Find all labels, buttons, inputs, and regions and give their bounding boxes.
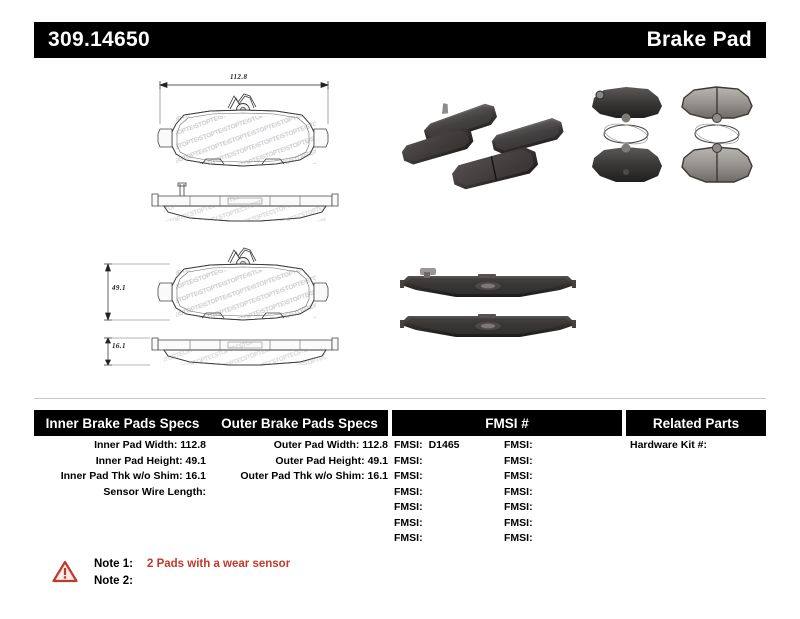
fmsi-label: FMSI: bbox=[504, 455, 533, 467]
fmsi-label: FMSI: bbox=[394, 532, 423, 544]
fmsi-label: FMSI: bbox=[504, 486, 533, 498]
dimension-thickness-label: 16.1 bbox=[112, 342, 126, 350]
note-row-2: Note 2: bbox=[94, 573, 290, 590]
outer-spec-line: Outer Pad Width: 112.8 bbox=[214, 438, 388, 454]
dimension-width-label: 112.8 bbox=[230, 73, 247, 81]
drawing-pad-edge-bottom: 16.1 bbox=[150, 330, 340, 374]
notes-section: Note 1: 2 Pads with a wear sensor Note 2… bbox=[52, 556, 472, 602]
fmsi-label: FMSI: bbox=[504, 501, 533, 513]
fmsi-row: FMSI: bbox=[504, 454, 604, 470]
fmsi-column-a: FMSI:D1465FMSI:FMSI:FMSI:FMSI:FMSI:FMSI: bbox=[394, 438, 494, 547]
fmsi-row: FMSI: bbox=[504, 500, 604, 516]
inner-spec-line: Inner Pad Thk w/o Shim: 16.1 bbox=[34, 469, 206, 485]
fmsi-label: FMSI: bbox=[504, 532, 533, 544]
fmsi-value: D1465 bbox=[429, 439, 460, 451]
inner-spec-line: Inner Pad Width: 112.8 bbox=[34, 438, 206, 454]
table-header-row: Inner Brake Pads Specs Outer Brake Pads … bbox=[34, 410, 766, 436]
fmsi-row: FMSI: bbox=[394, 516, 494, 532]
outer-spec-line: Outer Pad Height: 49.1 bbox=[214, 454, 388, 470]
part-number: 309.14650 bbox=[48, 28, 150, 52]
related-part-line: Hardware Kit #: bbox=[630, 438, 766, 454]
drawing-pad-edge-top: STOPTECH bbox=[150, 180, 340, 224]
dimension-height-label: 49.1 bbox=[112, 284, 126, 292]
fmsi-row: FMSI: bbox=[504, 516, 604, 532]
fmsi-row: FMSI:D1465 bbox=[394, 438, 494, 454]
fmsi-row: FMSI: bbox=[504, 469, 604, 485]
warning-triangle-icon bbox=[52, 560, 78, 583]
note-lines: Note 1: 2 Pads with a wear sensor Note 2… bbox=[94, 556, 290, 590]
fmsi-label: FMSI: bbox=[394, 517, 423, 529]
header-cell-fmsi: FMSI # bbox=[392, 410, 622, 436]
inner-spec-line: Inner Pad Height: 49.1 bbox=[34, 454, 206, 470]
product-type: Brake Pad bbox=[647, 28, 752, 52]
note-2-label: Note 2: bbox=[94, 573, 140, 590]
header-outer-brake-pads-specs: Outer Brake Pads Specs bbox=[211, 410, 388, 436]
photo-pad-set-grid bbox=[586, 84, 758, 188]
fmsi-row: FMSI: bbox=[394, 500, 494, 516]
photo-pad-pair-edge bbox=[400, 264, 576, 346]
fmsi-row: FMSI: bbox=[394, 454, 494, 470]
fmsi-label: FMSI: bbox=[394, 455, 423, 467]
fmsi-row: FMSI: bbox=[394, 531, 494, 547]
fmsi-label: FMSI: bbox=[504, 470, 533, 482]
outer-spec-line: Outer Pad Thk w/o Shim: 16.1 bbox=[214, 469, 388, 485]
photo-pad-set-angled bbox=[398, 86, 568, 186]
fmsi-row: FMSI: bbox=[394, 469, 494, 485]
table-top-divider bbox=[34, 398, 766, 399]
fmsi-row: FMSI: bbox=[504, 531, 604, 547]
fmsi-row: FMSI: bbox=[504, 438, 604, 454]
fmsi-row: FMSI: bbox=[504, 485, 604, 501]
note-row-1: Note 1: 2 Pads with a wear sensor bbox=[94, 556, 290, 573]
illustration-area: STOPTECH bbox=[0, 62, 800, 392]
header-cell-pads-specs: Inner Brake Pads Specs Outer Brake Pads … bbox=[34, 410, 388, 436]
fmsi-row: FMSI: bbox=[394, 485, 494, 501]
fmsi-label: FMSI: bbox=[394, 486, 423, 498]
fmsi-label: FMSI: bbox=[394, 470, 423, 482]
fmsi-label: FMSI: bbox=[394, 501, 423, 513]
outer-specs-column: Outer Pad Width: 112.8Outer Pad Height: … bbox=[214, 438, 388, 485]
fmsi-label: FMSI: bbox=[504, 439, 533, 451]
drawing-pad-face-top: STOPTECH bbox=[150, 80, 340, 180]
specifications-table: Inner Brake Pads Specs Outer Brake Pads … bbox=[34, 398, 766, 548]
header-cell-related-parts: Related Parts bbox=[626, 410, 766, 436]
fmsi-label: FMSI: bbox=[504, 517, 533, 529]
drawing-pad-face-bottom: 49.1 bbox=[150, 234, 340, 334]
inner-specs-column: Inner Pad Width: 112.8Inner Pad Height: … bbox=[34, 438, 206, 500]
related-parts-column: Hardware Kit #: bbox=[630, 438, 766, 454]
fmsi-column-b: FMSI:FMSI:FMSI:FMSI:FMSI:FMSI:FMSI: bbox=[504, 438, 604, 547]
inner-spec-line: Sensor Wire Length: bbox=[34, 485, 206, 501]
note-1-value: 2 Pads with a wear sensor bbox=[147, 556, 290, 573]
product-header-bar: 309.14650 Brake Pad bbox=[34, 22, 766, 58]
fmsi-label: FMSI: bbox=[394, 439, 423, 451]
note-1-label: Note 1: bbox=[94, 556, 140, 573]
header-inner-brake-pads-specs: Inner Brake Pads Specs bbox=[34, 410, 211, 436]
